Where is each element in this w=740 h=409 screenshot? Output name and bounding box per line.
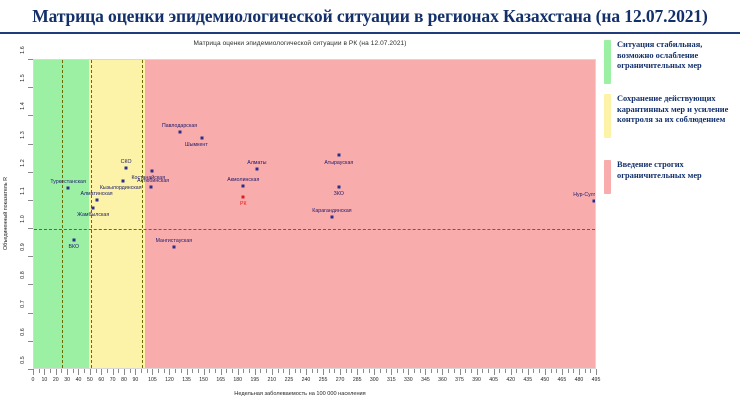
data-point (151, 170, 154, 173)
data-point-label: Акмолинская (227, 177, 259, 183)
x-tick (278, 369, 279, 373)
x-tick (420, 369, 421, 373)
x-tick (533, 369, 534, 373)
data-point-label: Жамбылская (77, 212, 109, 218)
x-tick (283, 369, 284, 373)
legend-label-red: Введение строгих ограничительных мер (617, 160, 740, 181)
x-tick-label: 135 (182, 377, 191, 383)
x-tick (471, 369, 472, 373)
x-tick (306, 369, 307, 375)
x-tick (56, 369, 57, 375)
x-tick (169, 369, 170, 375)
x-tick (50, 369, 51, 373)
data-point (242, 185, 245, 188)
plot-area: ПавлодарскаяШымкентАтыраускаяАлматыСКОКо… (33, 59, 596, 369)
data-point-label: Туркестанская (50, 179, 86, 185)
x-tick-label: 80 (121, 377, 127, 383)
x-tick (482, 369, 483, 373)
x-tick-label: 165 (216, 377, 225, 383)
x-tick-label: 225 (285, 377, 294, 383)
y-axis-labels: 0.50.60.70.80.91.01.11.21.31.41.51.6 (12, 59, 26, 369)
data-point (178, 130, 181, 133)
x-tick (135, 369, 136, 375)
x-tick (505, 369, 506, 373)
y-axis-ticks (26, 59, 33, 369)
x-tick (192, 369, 193, 373)
data-point (337, 186, 340, 189)
x-tick-label: 270 (336, 377, 345, 383)
data-point-label: Нур-Султан (573, 192, 596, 198)
x-tick (380, 369, 381, 373)
data-point-label: Актюбинская (137, 178, 169, 184)
x-tick (226, 369, 227, 373)
x-tick (585, 369, 586, 373)
x-tick-label: 360 (438, 377, 447, 383)
x-tick-label: 495 (592, 377, 601, 383)
x-tick (101, 369, 102, 375)
x-tick (44, 369, 45, 375)
data-point (121, 179, 124, 182)
x-tick (579, 369, 580, 375)
x-tick (408, 369, 409, 375)
x-tick (516, 369, 517, 373)
x-tick-label: 50 (87, 377, 93, 383)
x-tick-label: 480 (575, 377, 584, 383)
x-tick (437, 369, 438, 373)
data-point (172, 245, 175, 248)
x-tick (33, 369, 34, 375)
x-tick-label: 285 (353, 377, 362, 383)
data-point-label: ВКО (68, 244, 79, 250)
x-tick (73, 369, 74, 373)
x-tick (369, 369, 370, 373)
x-tick-label: 60 (98, 377, 104, 383)
x-tick (391, 369, 392, 375)
x-tick (84, 369, 85, 373)
x-tick (590, 369, 591, 373)
page-title: Матрица оценки эпидемиологической ситуац… (32, 6, 708, 27)
legend-label-yellow: Сохранение действующих карантинных мер и… (617, 94, 740, 126)
x-tick (403, 369, 404, 373)
x-tick (568, 369, 569, 373)
x-tick (181, 369, 182, 373)
x-tick (442, 369, 443, 375)
legend-label-green: Ситуация стабильная, возможно ослабление… (617, 40, 740, 72)
x-tick (300, 369, 301, 373)
data-point-label: РК (240, 201, 247, 207)
x-tick-label: 40 (76, 377, 82, 383)
threshold-vline-25 (62, 60, 63, 368)
x-tick (232, 369, 233, 373)
data-point-label: Карагандинская (312, 208, 351, 214)
x-tick-label: 330 (404, 377, 413, 383)
legend-item-red: Введение строгих ограничительных мер (604, 160, 740, 194)
data-point-label: Атырауская (324, 160, 353, 166)
x-tick (175, 369, 176, 373)
x-tick (238, 369, 239, 375)
x-tick (357, 369, 358, 375)
x-tick (61, 369, 62, 373)
x-tick (317, 369, 318, 373)
x-tick-label: 315 (387, 377, 396, 383)
x-axis-title: Недельная заболеваемость на 100 000 насе… (0, 391, 600, 397)
x-tick-label: 10 (41, 377, 47, 383)
data-point (92, 206, 95, 209)
x-tick (528, 369, 529, 375)
x-tick (107, 369, 108, 373)
x-tick (545, 369, 546, 375)
data-point (125, 166, 128, 169)
y-axis-title: Объединенный показатель R (1, 59, 11, 369)
x-tick (494, 369, 495, 375)
data-point-label: Алматы (247, 160, 266, 166)
x-tick (374, 369, 375, 375)
chart-title: Матрица оценки эпидемиологической ситуац… (0, 40, 600, 47)
x-tick-label: 390 (472, 377, 481, 383)
x-tick-label: 375 (455, 377, 464, 383)
x-tick (425, 369, 426, 375)
data-point-label: Павлодарская (162, 123, 197, 129)
x-tick-label: 105 (148, 377, 157, 383)
x-tick (573, 369, 574, 373)
x-tick (551, 369, 552, 373)
x-tick (243, 369, 244, 373)
x-tick (289, 369, 290, 375)
data-point-label: Шымкент (185, 142, 208, 148)
legend-swatch-red-icon (604, 160, 611, 194)
x-tick (209, 369, 210, 373)
x-tick (204, 369, 205, 375)
x-tick (556, 369, 557, 373)
slide-root: Матрица оценки эпидемиологической ситуац… (0, 0, 740, 409)
x-tick-label: 300 (370, 377, 379, 383)
x-tick (488, 369, 489, 373)
x-tick (499, 369, 500, 373)
data-point (255, 167, 258, 170)
x-tick (363, 369, 364, 373)
x-tick (39, 369, 40, 373)
y-tick-label: 1.6 (20, 46, 26, 54)
x-tick (346, 369, 347, 373)
x-tick (260, 369, 261, 373)
x-tick (386, 369, 387, 373)
data-point (95, 198, 98, 201)
x-tick-label: 180 (233, 377, 242, 383)
x-tick-label: 120 (165, 377, 174, 383)
x-tick (539, 369, 540, 373)
data-point-label: ЗКО (334, 191, 344, 197)
x-tick (266, 369, 267, 373)
x-tick (460, 369, 461, 375)
x-tick (215, 369, 216, 373)
legend-item-green: Ситуация стабильная, возможно ослабление… (604, 40, 740, 84)
x-tick (351, 369, 352, 373)
x-tick-label: 240 (302, 377, 311, 383)
title-bar: Матрица оценки эпидемиологической ситуац… (0, 0, 740, 34)
zone-red-strict (145, 60, 596, 368)
data-point (72, 238, 75, 241)
data-point (150, 186, 153, 189)
x-tick-label: 420 (506, 377, 515, 383)
x-tick-label: 210 (268, 377, 277, 383)
x-tick (152, 369, 153, 375)
x-tick (249, 369, 250, 373)
x-tick (431, 369, 432, 373)
x-tick (164, 369, 165, 373)
x-tick-label: 405 (489, 377, 498, 383)
x-tick (329, 369, 330, 373)
x-tick (130, 369, 131, 373)
x-tick (272, 369, 273, 375)
x-tick-label: 30 (64, 377, 70, 383)
x-tick (414, 369, 415, 373)
x-tick (118, 369, 119, 373)
x-axis-ticks (33, 369, 596, 376)
x-tick (124, 369, 125, 375)
x-tick (477, 369, 478, 375)
x-tick-label: 255 (319, 377, 328, 383)
x-tick (562, 369, 563, 375)
data-point (201, 136, 204, 139)
data-point (242, 196, 245, 199)
x-tick (198, 369, 199, 373)
x-tick-label: 195 (250, 377, 259, 383)
x-tick-label: 465 (558, 377, 567, 383)
x-tick (295, 369, 296, 373)
x-tick (187, 369, 188, 375)
data-point-label: Алматинская (80, 191, 112, 197)
data-point-label: СКО (121, 159, 132, 165)
x-tick-label: 150 (199, 377, 208, 383)
legend-item-yellow: Сохранение действующих карантинных мер и… (604, 94, 740, 138)
x-tick (255, 369, 256, 375)
data-point (337, 154, 340, 157)
x-tick-label: 70 (110, 377, 116, 383)
legend-swatch-yellow-icon (604, 94, 611, 138)
x-tick (312, 369, 313, 373)
data-point (67, 187, 70, 190)
x-tick (465, 369, 466, 373)
x-axis-labels: 0102030405060708090105120135150165180195… (33, 377, 596, 387)
x-tick-label: 450 (540, 377, 549, 383)
legend-swatch-green-icon (604, 40, 611, 84)
chart-panel: Матрица оценки эпидемиологической ситуац… (0, 34, 600, 409)
x-tick (323, 369, 324, 375)
x-tick (90, 369, 91, 375)
x-tick (511, 369, 512, 375)
x-tick (334, 369, 335, 373)
y-axis-title-text: Объединенный показатель R (3, 177, 9, 250)
x-tick (147, 369, 148, 373)
threshold-vline-95 (142, 60, 143, 368)
legend: Ситуация стабильная, возможно ослабление… (604, 38, 740, 378)
x-tick (113, 369, 114, 375)
x-tick (397, 369, 398, 373)
data-point (330, 216, 333, 219)
x-tick-label: 0 (32, 377, 35, 383)
x-tick (158, 369, 159, 373)
x-tick (448, 369, 449, 373)
threshold-hline-r1 (34, 229, 595, 230)
x-tick (96, 369, 97, 373)
x-tick-label: 20 (53, 377, 59, 383)
x-tick (67, 369, 68, 375)
x-tick-label: 435 (523, 377, 532, 383)
x-tick (221, 369, 222, 375)
x-tick (596, 369, 597, 375)
data-point-label: Мангистауская (156, 238, 193, 244)
x-tick (141, 369, 142, 373)
x-tick-label: 90 (132, 377, 138, 383)
x-tick-label: 345 (421, 377, 430, 383)
x-tick (522, 369, 523, 373)
x-tick (454, 369, 455, 373)
x-tick (78, 369, 79, 375)
data-point (592, 199, 595, 202)
x-tick (340, 369, 341, 375)
